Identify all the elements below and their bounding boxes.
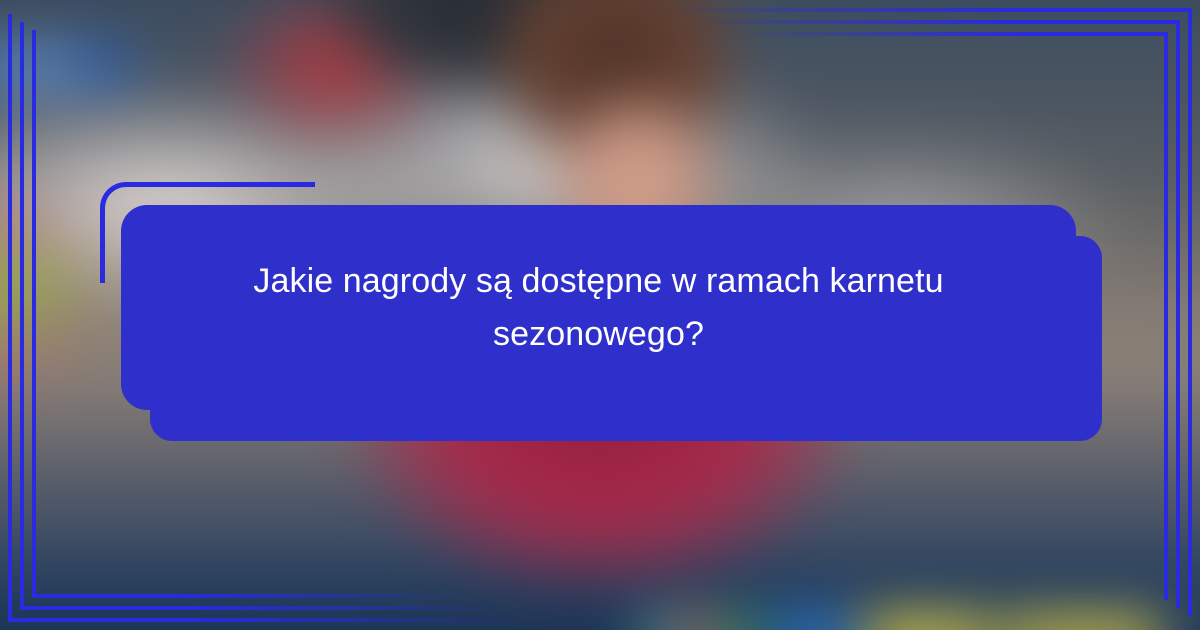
question-card-stack: Jakie nagrody są dostępne w ramach karne… bbox=[0, 0, 1200, 630]
question-card: Jakie nagrody są dostępne w ramach karne… bbox=[121, 205, 1076, 410]
question-text: Jakie nagrody są dostępne w ramach karne… bbox=[175, 255, 1023, 360]
poster-canvas: Jakie nagrody są dostępne w ramach karne… bbox=[0, 0, 1200, 630]
